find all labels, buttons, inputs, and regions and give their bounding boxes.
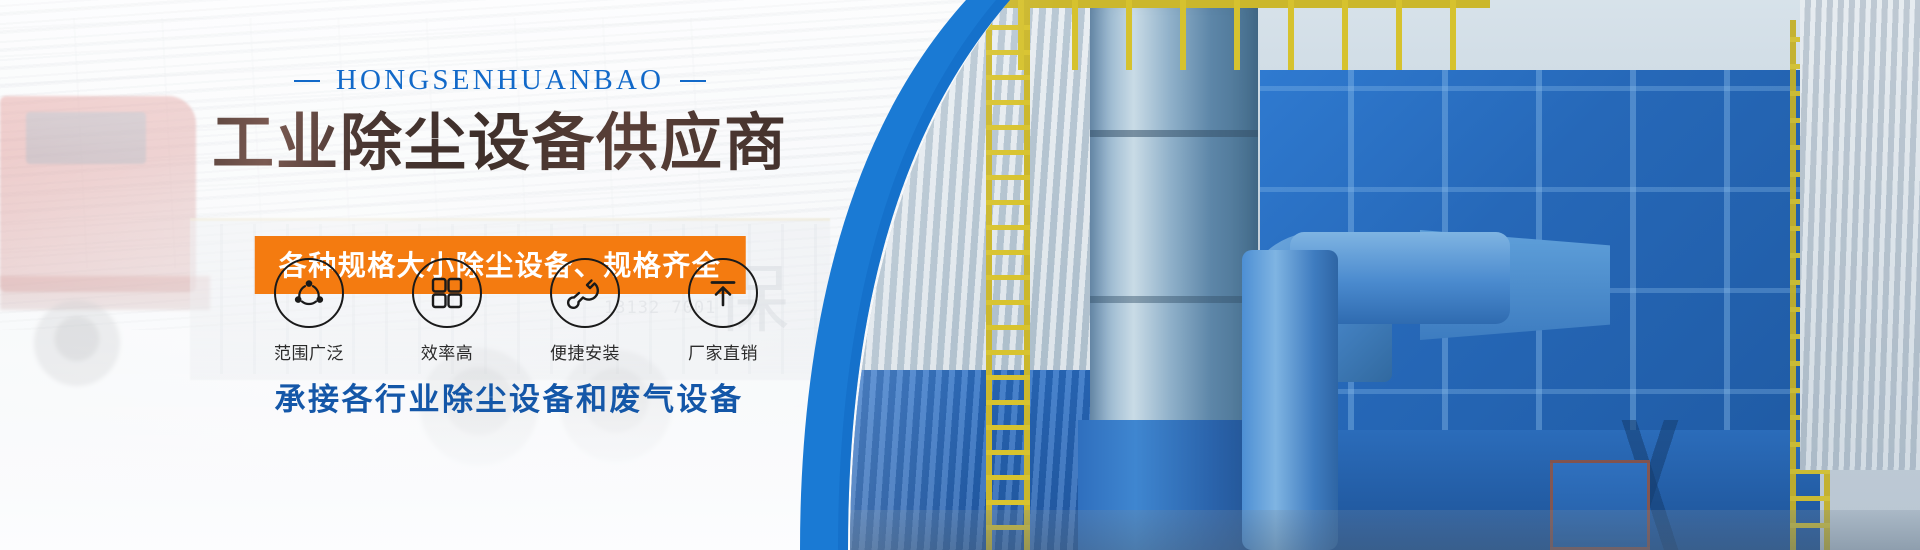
feature-label: 效率高	[407, 339, 487, 364]
headline: 工业除尘设备供应商	[0, 104, 1000, 184]
feature-icon-circle	[550, 258, 620, 328]
feature-icon-circle	[412, 258, 482, 328]
feature-item-factory-direct[interactable]: 厂家直销	[683, 258, 763, 364]
feature-icon-circle	[688, 258, 758, 328]
feature-icon-circle	[274, 258, 344, 328]
feature-label: 厂家直销	[683, 339, 763, 364]
feature-item-efficiency[interactable]: 效率高	[407, 258, 487, 364]
feature-item-install[interactable]: 便捷安装	[545, 258, 625, 364]
banner-content: HONGSENHUANBAO 工业除尘设备供应商 各种规格大小除尘设备、规格齐全	[0, 0, 1000, 550]
grid-four-squares-icon	[429, 275, 465, 311]
eyebrow-text: HONGSENHUANBAO	[336, 64, 664, 97]
share-network-icon	[290, 274, 328, 312]
feature-item-range[interactable]: 范围广泛	[269, 258, 349, 364]
wrench-icon	[566, 274, 604, 312]
promo-banner: 保 13132 7001	[0, 0, 1920, 550]
feature-label: 便捷安装	[545, 339, 625, 364]
eyebrow-row: HONGSENHUANBAO	[0, 64, 1000, 97]
feature-row: 范围广泛 效率高	[0, 258, 1000, 364]
eyebrow-dash-right	[680, 80, 706, 82]
feature-label: 范围广泛	[269, 339, 349, 364]
tagline: 承接各行业除尘设备和废气设备	[0, 374, 1000, 419]
eyebrow-dash-left	[294, 80, 320, 82]
arrow-up-to-line-icon	[705, 275, 741, 311]
